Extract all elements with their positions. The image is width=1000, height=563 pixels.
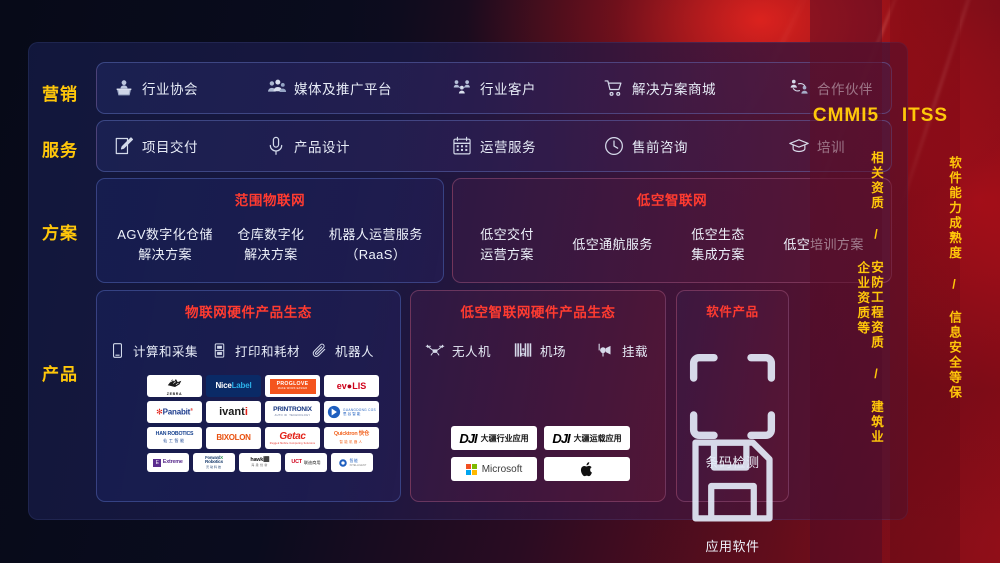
logo-forwardx[interactable]: ForwardX Robotics 灵动科技 [193,453,235,472]
logo-sub: MAKE WORK EASIER [278,387,308,390]
product-category-label: 无人机 [452,341,491,360]
product-category-compute-capture[interactable]: 计算和采集 [109,341,211,360]
logo-uct[interactable]: UCT 联迪商用 [285,453,327,472]
marketing-row-card: 行业协会 媒体及推广平台 [96,62,892,114]
service-item-product-design[interactable]: 产品设计 [265,135,451,157]
payload-mount-icon [595,340,615,360]
handshake-partners-icon [788,77,810,99]
solution-item[interactable]: 低空通航服务 [572,235,652,255]
logo-text: ZEBRA [166,393,184,397]
dji-wordmark: DJI [552,431,569,446]
main-panel: 营销 服务 方案 产品 行业协会 [28,42,908,520]
logo-cgs[interactable]: GUANGDONG CGS 思谷智能 [324,401,379,423]
airport-dock-icon [513,340,533,360]
software-item-label: 应用软件 [677,536,788,555]
marketing-item-label: 解决方案商城 [632,78,716,98]
marketing-item-label: 行业客户 [480,78,536,98]
product-card-title: 物联网硬件产品生态 [97,301,400,321]
solution-item[interactable]: 低空交付 运营方案 [480,225,534,264]
logo-dji-delivery[interactable]: DJI 大疆运载应用 [544,426,630,450]
logo-text: HAN ROBOTICS [156,432,194,437]
logo-sub: 灵动科技 [205,465,223,469]
service-row-card: 项目交付 产品设计 [96,120,892,172]
lowaltitude-logo-grid: DJI 大疆行业应用 DJI 大疆运载应用 Microsoft [451,426,630,481]
product-card-software: 软件产品 条码检测 [676,290,789,502]
row-label-service: 服务 [42,136,78,161]
drone-icon [425,340,445,360]
logo-printronix[interactable]: PRINTRONIX AUTO ID TECHNOLOGY [265,401,320,423]
logo-extreme[interactable]: E Extreme [147,453,189,472]
printer-icon [211,342,228,359]
product-category-label: 机器人 [335,341,374,360]
logo-dji-enterprise[interactable]: DJI 大疆行业应用 [451,426,537,450]
zebra-head-icon [166,378,184,388]
logo-sub: 仙工智能 [156,438,194,444]
org-chart-people-icon [451,77,473,99]
gear-mark-icon [338,458,348,468]
cert-vertical-text: 相关资质 / 安防工程资质 / 建筑业企业资质等 [810,148,882,448]
product-category-airport[interactable]: 机场 [513,340,595,360]
logo-quicktron[interactable]: Quicktron 快仓 智能机器人 [324,427,379,449]
marketing-item-solution-mall[interactable]: 解决方案商城 [603,77,788,99]
solution-card-scope-iot: 范围物联网 AGV数字化仓储 解决方案 仓库数字化 解决方案 机器人运营服务 （… [96,178,444,283]
marketing-item-media-promotion[interactable]: 媒体及推广平台 [265,77,451,99]
solution-item[interactable]: AGV数字化仓储 解决方案 [117,225,213,264]
logo-hai-robotics[interactable]: hawk⬛ 海柔创新 [239,453,281,472]
paperclip-robot-icon [311,342,328,359]
calendar-icon [451,135,473,157]
solution-item[interactable]: 低空生态 集成方案 [691,225,745,264]
product-category-print-consumable[interactable]: 打印和耗材 [211,341,311,360]
service-item-presale-consulting[interactable]: 售前咨询 [603,135,788,157]
marketing-item-label: 媒体及推广平台 [294,78,392,98]
iot-logo-grid: ZEBRA NiceLabel PROGLOVE MAKE WORK EASIE… [147,375,397,472]
product-card-title: 软件产品 [677,301,788,320]
product-category-drone[interactable]: 无人机 [425,340,513,360]
logo-text: BIXOLON [216,434,250,442]
row-label-marketing: 营销 [42,80,78,105]
logo-getac[interactable]: Getac Rugged Mobile Computing Solutions [265,427,320,449]
logo-microsoft[interactable]: Microsoft [451,457,537,481]
software-item-application-software[interactable]: 应用软件 [677,425,788,555]
logo-text: Quicktron 快仓 [334,432,369,437]
solution-card-title: 范围物联网 [97,189,443,209]
infographic-canvas: 营销 服务 方案 产品 行业协会 [0,0,1000,563]
product-card-lowaltitude-hardware: 低空智联网硬件产品生态 无人机 [410,290,666,502]
cert-title: CMMI5 [810,105,882,127]
podium-speaker-icon [113,77,135,99]
cert-vertical-text: 软件能力成熟度 / 信息安全等保 [890,148,960,408]
certification-column-itss: ITSS 软件能力成熟度 / 信息安全等保 [890,0,960,563]
logo-bixolon[interactable]: BIXOLON [206,427,261,449]
pencil-document-icon [113,135,135,157]
service-item-operation-service[interactable]: 运营服务 [451,135,603,157]
cgs-mark-icon [327,405,341,419]
logo-ivanti[interactable]: ivanti [206,401,261,423]
marketing-item-label: 行业协会 [142,78,198,98]
row-label-solution: 方案 [42,219,78,244]
cert-title: ITSS [890,105,960,127]
service-item-label: 运营服务 [480,136,536,156]
marketing-item-industry-association[interactable]: 行业协会 [113,77,265,99]
product-card-iot-hardware: 物联网硬件产品生态 计算和采集 [96,290,401,502]
shopping-cart-icon [603,77,625,99]
logo-text: PRINTRONIX [273,407,312,414]
solution-item[interactable]: 机器人运营服务 （RaaS） [329,225,423,264]
mobile-device-icon [109,342,126,359]
product-card-title: 低空智联网硬件产品生态 [411,301,665,321]
logo-sub: 思谷智能 [343,412,376,417]
logo-evolis[interactable]: ev●LIS [324,375,379,397]
dji-cn-label: 大疆运载应用 [574,433,622,444]
logo-lanka[interactable]: 智能 INTELLIGENT [331,453,373,472]
clock-icon [603,135,625,157]
floppy-disk-icon [677,425,788,536]
logo-han-robotics[interactable]: HAN ROBOTICS 仙工智能 [147,427,202,449]
microsoft-squares-icon [466,464,477,475]
logo-apple[interactable] [544,457,630,481]
logo-zebra[interactable]: ZEBRA [147,375,202,397]
logo-text: Getac [270,432,315,442]
product-category-label: 计算和采集 [133,341,198,360]
product-category-label: 打印和耗材 [235,341,300,360]
certification-column-cmmi5: CMMI5 相关资质 / 安防工程资质 / 建筑业企业资质等 [810,0,882,563]
marketing-item-industry-customer[interactable]: 行业客户 [451,77,603,99]
product-category-label: 机场 [540,341,566,360]
apple-icon [580,461,594,478]
logo-text: Microsoft [482,464,523,475]
service-item-label: 售前咨询 [632,136,688,156]
product-category-payload[interactable]: 挂载 [595,340,648,360]
service-item-project-delivery[interactable]: 项目交付 [113,135,265,157]
people-group-icon [265,77,287,99]
logo-nicelabel[interactable]: NiceLabel [206,375,261,397]
logo-sub: 智能机器人 [334,439,369,444]
service-item-label: 产品设计 [294,136,350,156]
solution-item[interactable]: 仓库数字化 解决方案 [237,225,304,264]
row-label-product: 产品 [42,360,78,385]
logo-text: Extreme [163,460,183,465]
product-category-label: 挂载 [622,341,648,360]
dji-cn-label: 大疆行业应用 [481,433,529,444]
dji-wordmark: DJI [459,431,476,446]
logo-panabit[interactable]: ✻Panabit® [147,401,202,423]
logo-proglove[interactable]: PROGLOVE MAKE WORK EASIER [265,375,320,397]
service-item-label: 项目交付 [142,136,198,156]
graduation-cap-icon [788,135,810,157]
product-category-robot[interactable]: 机器人 [311,341,374,360]
microphone-icon [265,135,287,157]
